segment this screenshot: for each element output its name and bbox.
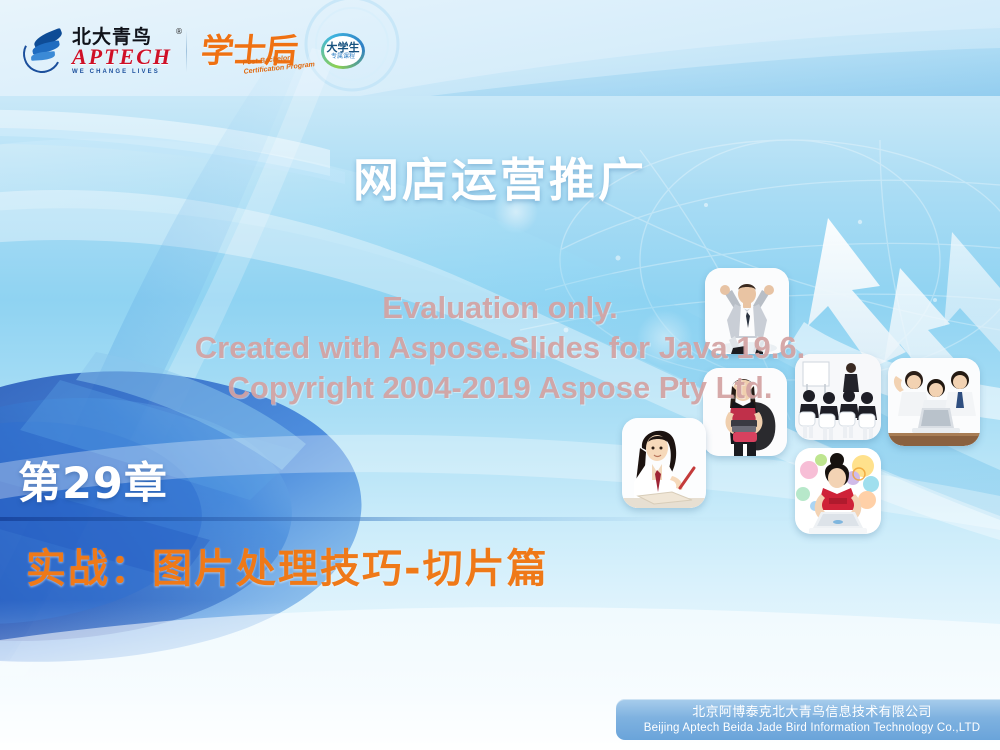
watermark-line-3: Copyright 2004-2019 Aspose Pty Ltd. <box>0 368 1000 408</box>
chapter-number: 第29章 <box>18 449 168 511</box>
company-name-en: Beijing Aptech Beida Jade Bird Informati… <box>644 721 981 735</box>
aspose-evaluation-watermark: Evaluation only. Created with Aspose.Sli… <box>0 288 1000 408</box>
aptech-wordmark: APTECH <box>72 46 172 68</box>
company-name-cn: 北京阿博泰克北大青鸟信息技术有限公司 <box>692 705 931 721</box>
badge-line-1: 大学生 <box>327 42 360 53</box>
aptech-bird-icon <box>22 27 70 75</box>
aptech-chinese-name: 北大青鸟® <box>72 27 172 47</box>
aptech-logo: 北大青鸟® APTECH WE CHANGE LIVES <box>22 22 172 80</box>
registered-trademark-icon: ® <box>175 22 184 42</box>
watermark-line-2: Created with Aspose.Slides for Java 19.6… <box>0 328 1000 368</box>
company-footer: 北京阿博泰克北大青鸟信息技术有限公司 Beijing Aptech Beida … <box>616 699 1000 740</box>
presentation-slide: 北大青鸟® APTECH WE CHANGE LIVES 学士后 Post-Ba… <box>0 0 1000 750</box>
logo-divider <box>186 30 187 72</box>
photo-teacher-pointing <box>622 418 706 508</box>
page-title: 网店运营推广 <box>0 144 1000 210</box>
watermark-line-1: Evaluation only. <box>0 288 1000 328</box>
brand-logo-bar: 北大青鸟® APTECH WE CHANGE LIVES 学士后 Post-Ba… <box>22 22 361 80</box>
chapter-divider <box>0 517 930 521</box>
photo-woman-red-laptop <box>795 448 881 534</box>
badge-line-2: 专属课程 <box>331 54 355 60</box>
college-student-badge: 大学生 专属课程 <box>321 33 365 69</box>
post-bachelor-logo: 学士后 Post-Bachelor Certification Program … <box>201 23 361 79</box>
chapter-title: 实战：图片处理技巧-切片篇 <box>26 536 549 594</box>
aptech-tagline: WE CHANGE LIVES <box>72 68 172 76</box>
